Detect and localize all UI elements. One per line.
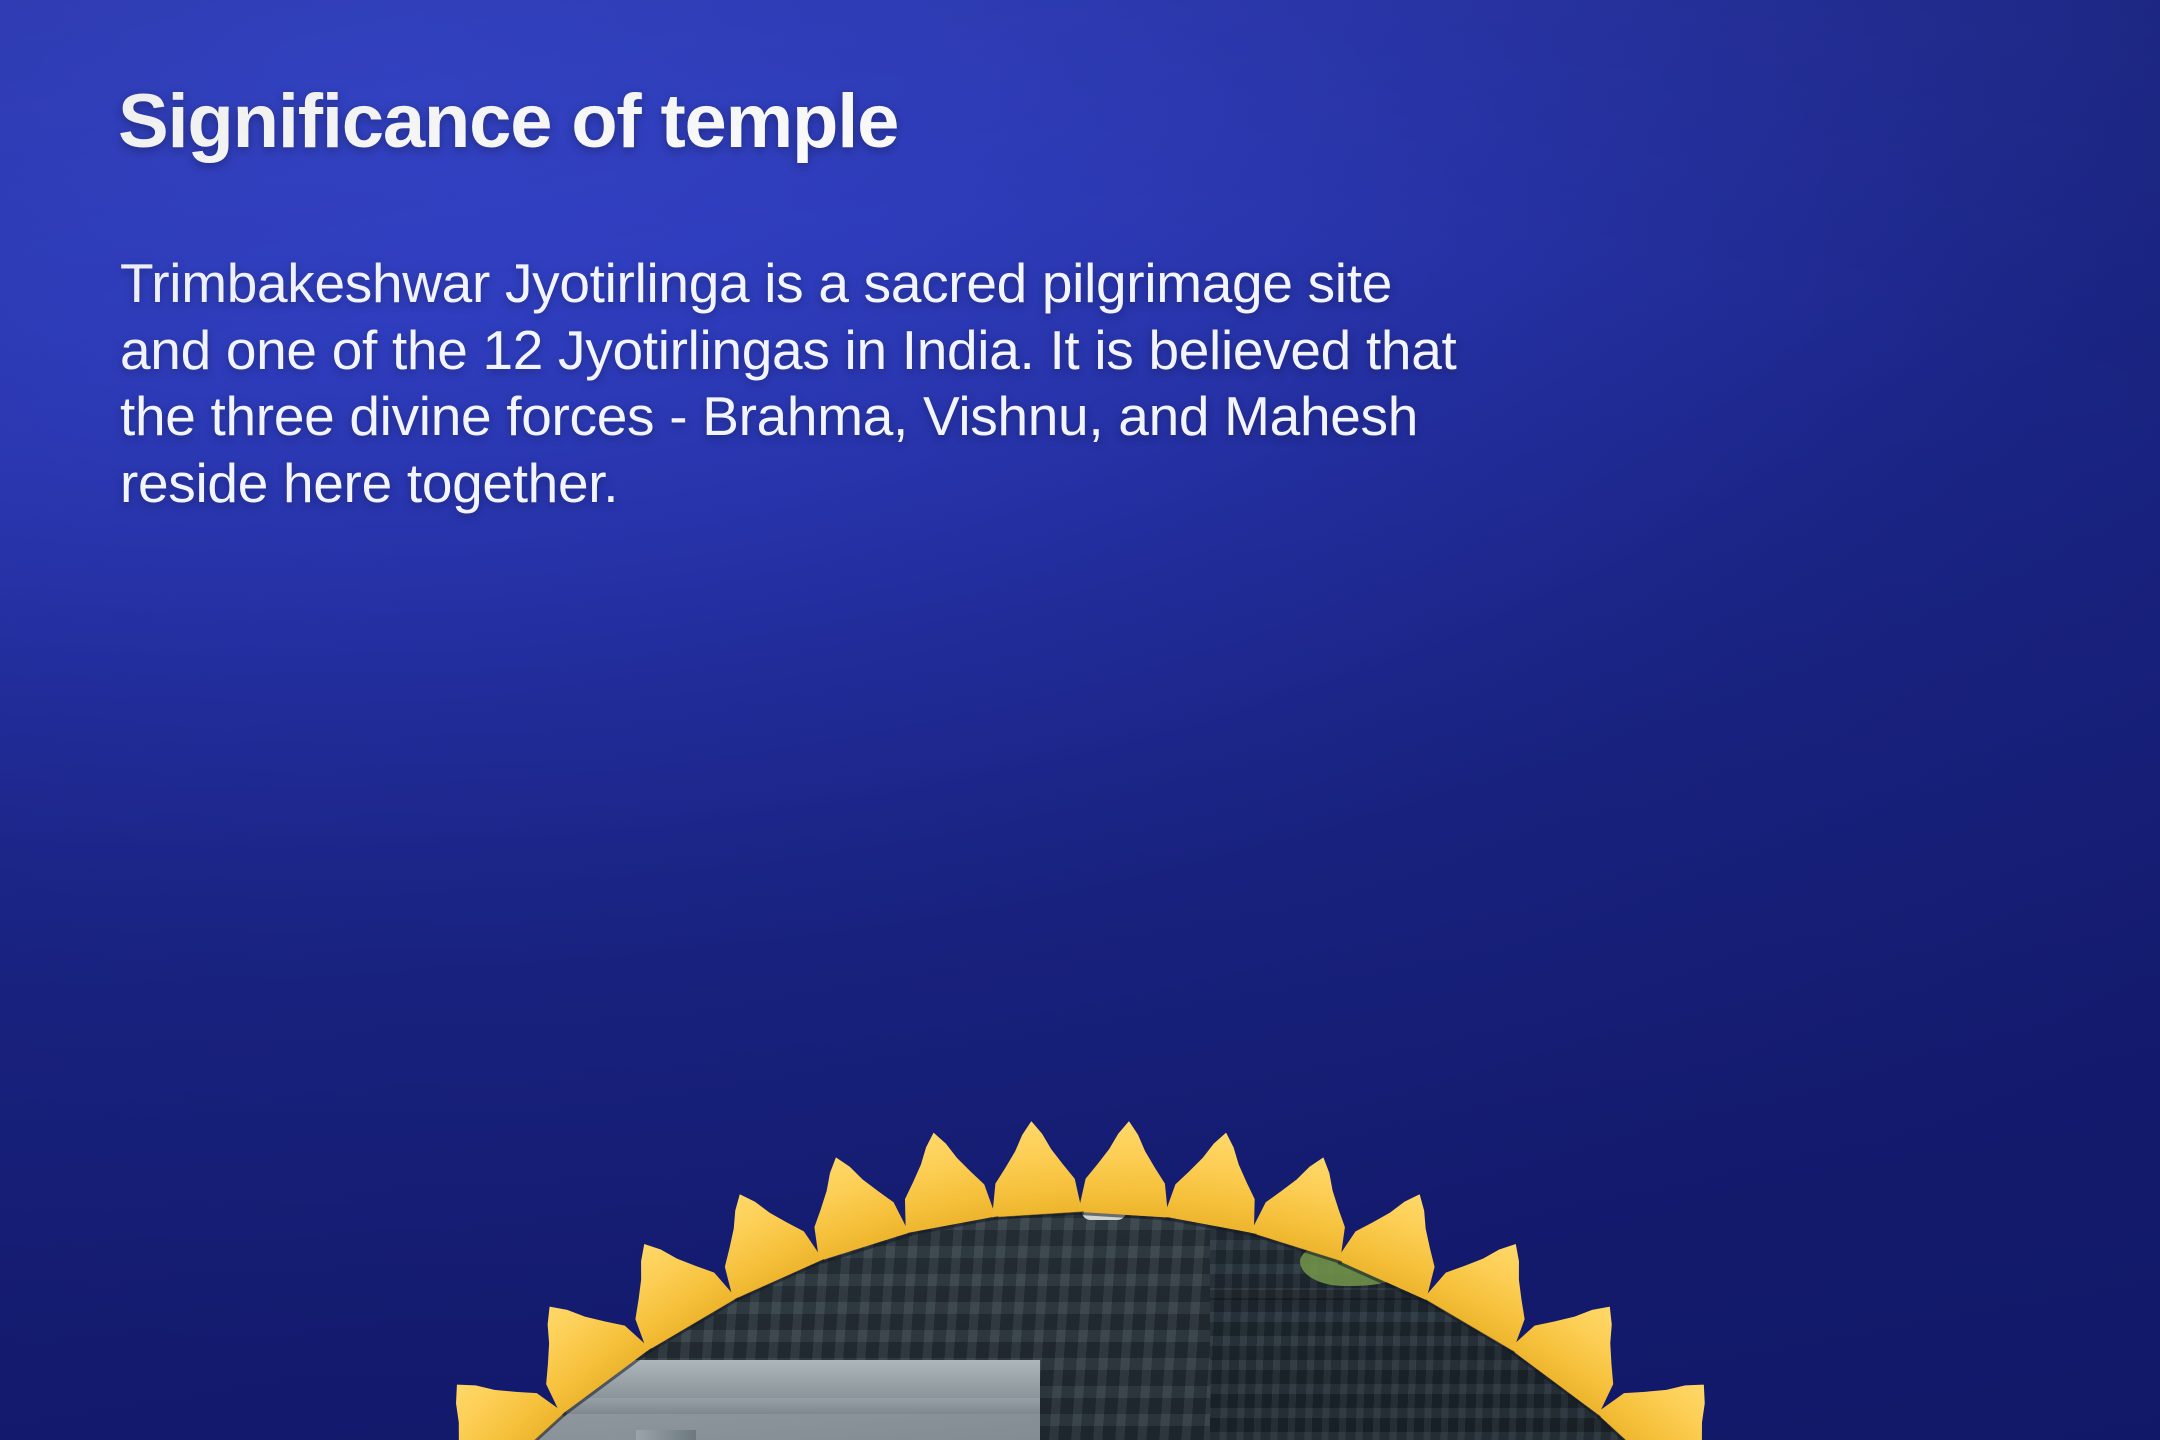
body-line: Trimbakeshwar Jyotirlinga is a sacred pi… [120,250,2050,317]
page-title: Significance of temple [118,78,898,165]
body-line: the three divine forces - Brahma, Vishnu… [120,383,2050,450]
slide-canvas: Significance of temple Trimbakeshwar Jyo… [0,0,2160,1440]
body-line: reside here together. [120,450,2050,517]
header-block: Significance of temple Trimbakeshwar Jyo… [0,0,2160,640]
body-line: and one of the 12 Jyotirlingas in India.… [120,317,2050,384]
body-paragraph: Trimbakeshwar Jyotirlinga is a sacred pi… [120,250,2050,516]
pillar [636,1430,696,1440]
